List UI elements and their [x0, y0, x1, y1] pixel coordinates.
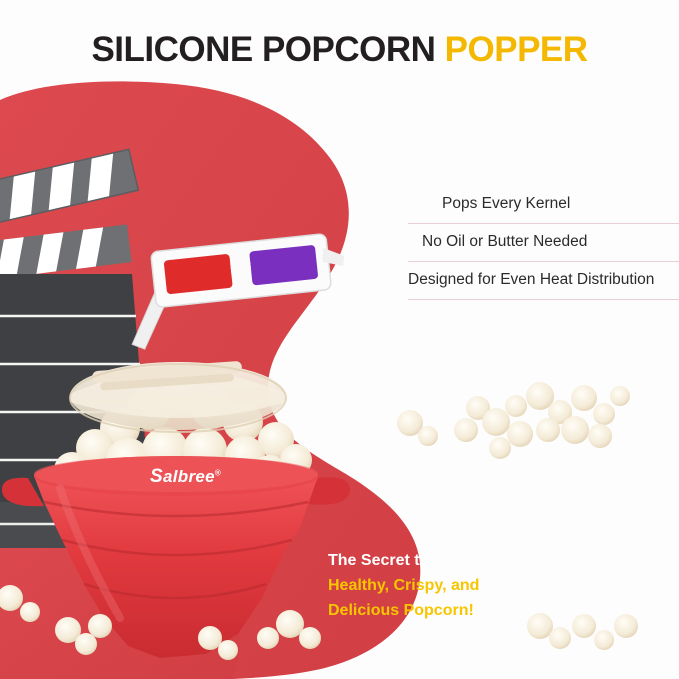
brand-trademark-icon: ® [215, 468, 221, 477]
caption-line-2: Healthy, Crispy, and [328, 573, 628, 598]
feature-item-3: Designed for Even Heat Distribution [408, 262, 679, 300]
caption-line-3: Delicious Popcorn! [328, 598, 628, 623]
feature-item-1: Pops Every Kernel [408, 186, 679, 224]
feature-item-2: No Oil or Butter Needed [408, 224, 679, 262]
headline-main: SILICONE POPCORN [91, 30, 444, 69]
scattered-popcorn-right [397, 382, 630, 459]
brand-logo: Salbree® [150, 466, 290, 488]
brand-name: albree [163, 467, 215, 486]
caption-line-1: The Secret to [328, 548, 628, 573]
brand-initial: S [150, 466, 163, 487]
page-title: SILICONE POPCORN POPPER [0, 30, 679, 70]
bottom-caption: The Secret to Healthy, Crispy, and Delic… [328, 548, 628, 623]
product-image: SILICONE POPCORN POPPER [0, 0, 679, 679]
headline-accent: POPPER [445, 30, 588, 69]
feature-list: Pops Every Kernel No Oil or Butter Neede… [408, 186, 679, 300]
